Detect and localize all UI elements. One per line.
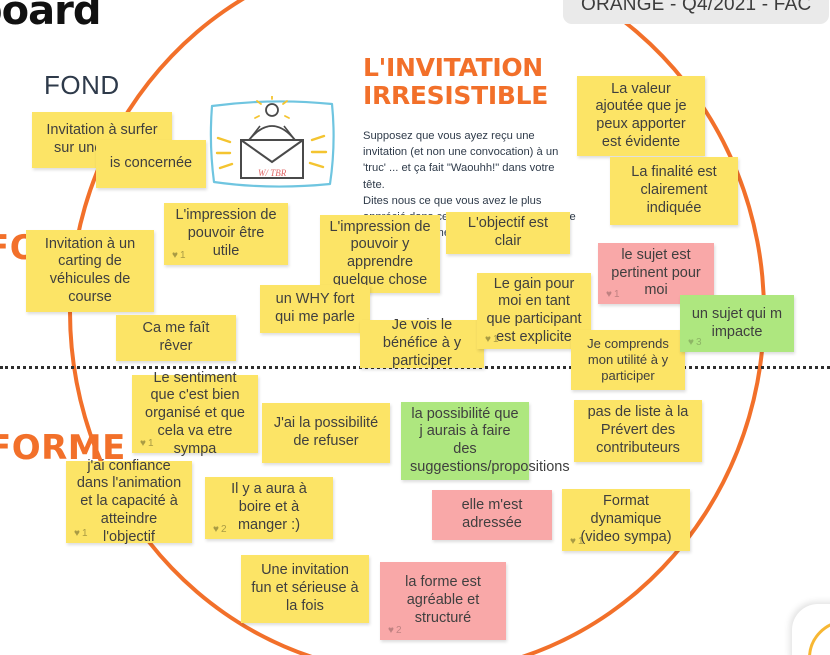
sticky-note-text: Le gain pour moi en tant que participant… bbox=[486, 276, 582, 347]
envelope-illustration: W/ TBR bbox=[206, 96, 338, 192]
sticky-note-text: L'impression de pouvoir y apprendre quel… bbox=[329, 219, 431, 290]
sticky-note-text: Je comprends mon utilité à y participer bbox=[580, 336, 676, 384]
sticky-note[interactable]: Ca me faît rêver bbox=[116, 315, 236, 361]
heart-icon: ♥ bbox=[213, 525, 219, 535]
sticky-note[interactable]: Le sentiment que c'est bien organisé et … bbox=[132, 375, 258, 453]
board-title-pill[interactable]: ORANGE - Q4/2021 - FAC bbox=[563, 0, 829, 24]
sticky-note[interactable]: La valeur ajoutée que je peux apporter e… bbox=[577, 76, 705, 156]
sticky-note-text: Il y a aura à boire et à manger :) bbox=[214, 481, 324, 534]
sticky-note-text: Format dynamique (video sympa) bbox=[571, 493, 681, 546]
like-counter[interactable]: ♥1 bbox=[570, 537, 584, 547]
sticky-note[interactable]: j'ai confiance dans l'animation et la ca… bbox=[66, 461, 192, 543]
sticky-note-text: L'objectif est clair bbox=[455, 215, 561, 250]
sticky-note-text: j'ai confiance dans l'animation et la ca… bbox=[75, 458, 183, 546]
sticky-note[interactable]: pas de liste à la Prévert des contribute… bbox=[574, 400, 702, 462]
sticky-note-text: un WHY fort qui me parle bbox=[269, 291, 361, 326]
heart-icon: ♥ bbox=[570, 537, 576, 547]
sticky-note[interactable]: Invitation à un carting de véhicules de … bbox=[26, 230, 154, 312]
sticky-note-text: La finalité est clairement indiquée bbox=[619, 164, 729, 217]
like-count: 3 bbox=[696, 338, 702, 348]
like-counter[interactable]: ♥1 bbox=[172, 251, 186, 261]
sticky-note[interactable]: un WHY fort qui me parle bbox=[260, 285, 370, 333]
like-count: 1 bbox=[148, 439, 154, 449]
svg-text:W/ TBR: W/ TBR bbox=[258, 168, 287, 178]
heart-icon: ♥ bbox=[388, 626, 394, 636]
sticky-note[interactable]: la forme est agréable et structuré♥2 bbox=[380, 562, 506, 640]
sticky-note-text: is concernée bbox=[105, 155, 197, 173]
sticky-note-text: un sujet qui m impacte bbox=[689, 306, 785, 341]
sticky-note[interactable]: is concernée bbox=[96, 140, 206, 188]
heart-icon: ♥ bbox=[485, 335, 491, 345]
like-count: 1 bbox=[578, 537, 584, 547]
sticky-note-text: elle m'est adressée bbox=[441, 497, 543, 532]
sticky-note[interactable]: L'impression de pouvoir y apprendre quel… bbox=[320, 215, 440, 293]
app-logo[interactable]: board bbox=[0, 0, 100, 34]
heart-icon: ♥ bbox=[606, 290, 612, 300]
sticky-note[interactable]: J'ai la possibilité de refuser bbox=[262, 403, 390, 463]
sticky-note[interactable]: la possibilité que j aurais à faire des … bbox=[401, 402, 529, 480]
like-counter[interactable]: ♥1 bbox=[485, 335, 499, 345]
sticky-note[interactable]: un sujet qui m impacte♥3 bbox=[680, 295, 794, 352]
like-count: 1 bbox=[82, 529, 88, 539]
sticky-note[interactable]: Format dynamique (video sympa)♥1 bbox=[562, 489, 690, 551]
sticky-note-text: le sujet est pertinent pour moi bbox=[607, 247, 705, 300]
heart-icon: ♥ bbox=[172, 251, 178, 261]
sticky-note-text: Invitation à un carting de véhicules de … bbox=[35, 236, 145, 307]
heart-icon: ♥ bbox=[74, 529, 80, 539]
sticky-note[interactable]: Je comprends mon utilité à y participer bbox=[571, 330, 685, 390]
sticky-note[interactable]: L'impression de pouvoir être utile♥1 bbox=[164, 203, 288, 265]
page-title: L'INVITATION IRRESISTIBLE bbox=[363, 54, 553, 110]
sticky-note-text: J'ai la possibilité de refuser bbox=[271, 415, 381, 450]
like-counter[interactable]: ♥1 bbox=[74, 529, 88, 539]
like-counter[interactable]: ♥3 bbox=[688, 338, 702, 348]
whiteboard-canvas[interactable]: FOND FORME FOND L'INVITATION IRRESISTIBL… bbox=[0, 0, 830, 655]
sticky-note-text: L'impression de pouvoir être utile bbox=[173, 207, 279, 260]
like-count: 1 bbox=[614, 290, 620, 300]
sticky-note-text: Ca me faît rêver bbox=[125, 320, 227, 355]
sticky-note[interactable]: Je vois le bénéfice à y participer bbox=[360, 320, 484, 368]
sticky-note-text: la possibilité que j aurais à faire des … bbox=[410, 406, 520, 477]
heart-icon: ♥ bbox=[688, 338, 694, 348]
sticky-note[interactable]: Il y a aura à boire et à manger :)♥2 bbox=[205, 477, 333, 539]
heart-icon: ♥ bbox=[140, 439, 146, 449]
like-counter[interactable]: ♥1 bbox=[140, 439, 154, 449]
sticky-note-text: Le sentiment que c'est bien organisé et … bbox=[141, 370, 249, 458]
sticky-note-text: Je vois le bénéfice à y participer bbox=[369, 317, 475, 370]
sticky-note[interactable]: La finalité est clairement indiquée bbox=[610, 157, 738, 225]
like-count: 2 bbox=[221, 525, 227, 535]
sticky-note-text: pas de liste à la Prévert des contribute… bbox=[583, 404, 693, 457]
like-counter[interactable]: ♥1 bbox=[606, 290, 620, 300]
like-count: 1 bbox=[180, 251, 186, 261]
sticky-note-text: la forme est agréable et structuré bbox=[389, 574, 497, 627]
like-counter[interactable]: ♥2 bbox=[388, 626, 402, 636]
sticky-note[interactable]: L'objectif est clair bbox=[446, 212, 570, 254]
like-counter[interactable]: ♥2 bbox=[213, 525, 227, 535]
like-count: 2 bbox=[396, 626, 402, 636]
sticky-note[interactable]: elle m'est adressée bbox=[432, 490, 552, 540]
sticky-note-text: La valeur ajoutée que je peux apporter e… bbox=[586, 81, 696, 152]
sticky-note-text: Une invitation fun et sérieuse à la fois bbox=[250, 562, 360, 615]
like-count: 1 bbox=[493, 335, 499, 345]
fond-section-title: FOND bbox=[44, 70, 120, 101]
sticky-note[interactable]: Une invitation fun et sérieuse à la fois bbox=[241, 555, 369, 623]
